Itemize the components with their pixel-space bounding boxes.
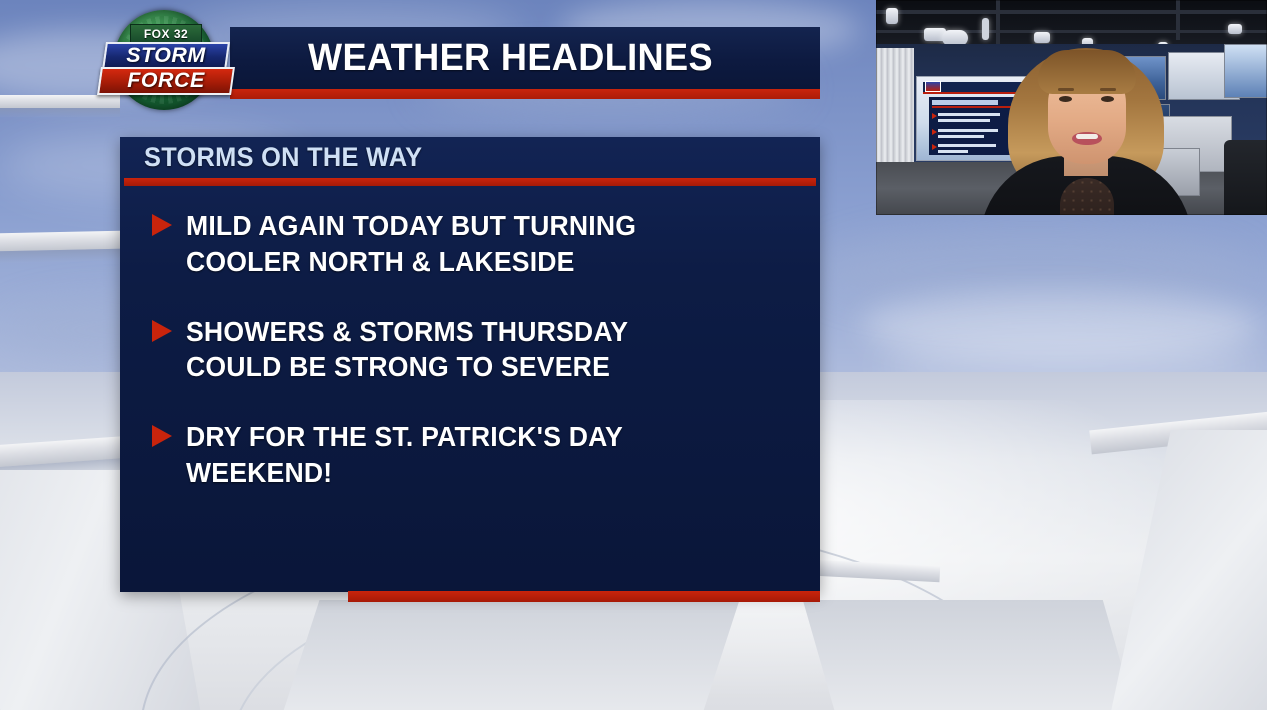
panel-accent-rule <box>124 178 816 186</box>
panel-bottom-accent-rule <box>348 591 820 602</box>
floor-wedge <box>803 600 1137 710</box>
banner-accent-rule <box>230 89 820 99</box>
list-item: SHOWERS & STORMS THURSDAY COULD BE STRON… <box>144 314 796 386</box>
list-item-text: DRY FOR THE ST. PATRICK'S DAY WEEKEND! <box>186 419 623 491</box>
list-item: DRY FOR THE ST. PATRICK'S DAY WEEKEND! <box>144 419 796 491</box>
list-item-text: SHOWERS & STORMS THURSDAY COULD BE STRON… <box>186 314 628 386</box>
logo-storm-label: STORM <box>126 44 206 68</box>
presenter-brow <box>1058 88 1074 91</box>
ceiling-truss <box>1176 0 1180 40</box>
triangle-right-icon <box>932 113 937 119</box>
mini-text-line <box>938 150 968 153</box>
logo-network-label: FOX 32 <box>130 24 202 44</box>
weather-headlines-panel: STORMS ON THE WAY MILD AGAIN TODAY BUT T… <box>120 137 820 592</box>
presenter-eye <box>1059 96 1072 102</box>
meteorologist-video-inset <box>876 0 1267 215</box>
weather-headlines-banner: WEATHER HEADLINES <box>230 27 820 99</box>
studio-chair <box>1224 140 1267 215</box>
triangle-right-icon <box>152 320 174 342</box>
logo-force-banner: FORCE <box>97 67 235 95</box>
list-item-text: MILD AGAIN TODAY BUT TURNING COOLER NORT… <box>186 208 636 280</box>
triangle-right-icon <box>152 425 174 447</box>
presenter-hair-front <box>1038 50 1136 94</box>
floor-wedge <box>281 600 740 710</box>
mini-text-line <box>938 135 984 138</box>
studio-light <box>886 8 898 24</box>
panel-subtitle: STORMS ON THE WAY <box>144 142 422 173</box>
fox32-storm-force-logo: FOX 32 STORM FORCE <box>96 4 236 114</box>
mini-text-line <box>938 119 990 122</box>
presenter-eye <box>1101 96 1114 102</box>
studio-light <box>982 18 989 40</box>
page-title: WEATHER HEADLINES <box>308 37 713 80</box>
studio-monitor <box>1224 44 1267 98</box>
presenter-brow <box>1100 88 1116 91</box>
triangle-right-icon <box>152 214 174 236</box>
triangle-right-icon <box>932 129 937 135</box>
studio-rail-shadow <box>0 249 120 264</box>
ceiling-truss <box>876 10 1267 14</box>
presenter-teeth <box>1076 134 1098 139</box>
logo-force-label: FORCE <box>127 69 205 93</box>
panel-subtitle-row: STORMS ON THE WAY <box>120 137 820 178</box>
studio-curtain <box>876 48 914 173</box>
meteorologist-figure <box>986 40 1186 215</box>
logo-storm-banner: STORM <box>102 42 230 70</box>
headline-bullet-list: MILD AGAIN TODAY BUT TURNING COOLER NORT… <box>120 186 820 491</box>
triangle-right-icon <box>932 144 937 150</box>
studio-light <box>1228 24 1242 34</box>
list-item: MILD AGAIN TODAY BUT TURNING COOLER NORT… <box>144 208 796 280</box>
mini-logo-icon <box>925 81 941 92</box>
banner-body: WEATHER HEADLINES <box>230 27 820 89</box>
